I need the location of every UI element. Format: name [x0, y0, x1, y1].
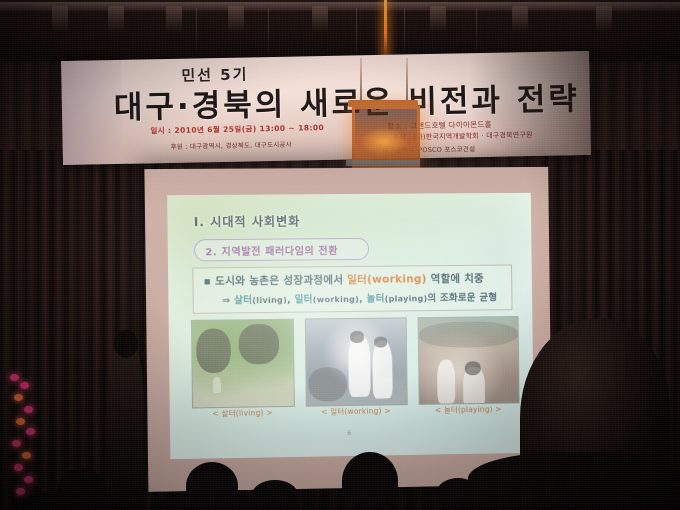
- truss-fixture: [52, 6, 68, 32]
- truss-bar: [0, 2, 680, 11]
- rigging-cable: [476, 8, 477, 52]
- stage-floral-decoration: [2, 372, 46, 510]
- slide-photo-playing: [418, 316, 520, 405]
- bullet-2-playing: 놀터: [367, 294, 385, 305]
- audience-head: [342, 452, 398, 510]
- bullet-2-playing-en: (playing): [385, 294, 428, 303]
- audience-shoulders: [150, 496, 300, 510]
- conference-banner: 민선 5기 대구·경북의 새로운 비전과 전략 일시 : 2010년 6월 25…: [61, 51, 591, 165]
- slide-page-number: 6: [347, 430, 351, 437]
- truss-fixture: [228, 6, 244, 32]
- slide-photo-caption: < 살터(living) >: [192, 407, 293, 420]
- slide-photo-living: [191, 319, 295, 409]
- lamp-base: [346, 160, 420, 166]
- slide-photo-working: [305, 317, 408, 406]
- bullet-1-highlight: 일터(working): [347, 273, 427, 286]
- bullet-2-living: 살터: [234, 295, 252, 306]
- bullet-2-living-en: (living): [252, 296, 287, 305]
- lamp-glow: [360, 128, 408, 156]
- bullet-1-suffix: 역할에 치중: [427, 273, 484, 286]
- bullet-2-working: 일터: [295, 294, 313, 305]
- banner-sponsor: 후원 : 대구광역시, 경상북도, 대구도시공사: [171, 139, 292, 151]
- slide-photo-caption: < 일터(working) >: [306, 405, 406, 418]
- truss-fixture: [108, 6, 124, 32]
- standing-person-silhouette: [108, 340, 144, 510]
- presentation-slide: I. 시대적 사회변화 2. 지역발전 패러다임의 전환 ▪ 도시와 농촌은 성…: [167, 193, 534, 459]
- bullet-2-working-en: (working): [313, 295, 359, 305]
- truss-fixture: [430, 6, 446, 32]
- truss-fixture: [512, 6, 528, 32]
- bullet-1-prefix: 도시와 농촌은 성장과정에서: [215, 274, 347, 287]
- rigging-cable: [268, 8, 269, 60]
- conference-photo-scene: 민선 5기 대구·경북의 새로운 비전과 전략 일시 : 2010년 6월 25…: [0, 0, 680, 510]
- bullet-marker: ▪: [204, 275, 216, 287]
- slide-bullet-1: ▪ 도시와 농촌은 성장과정에서 일터(working) 역할에 치중: [204, 271, 484, 289]
- truss-fixture: [166, 6, 182, 32]
- slide-photo-caption: < 놀터(playing) >: [419, 403, 518, 416]
- truss-fixture: [596, 6, 612, 32]
- slide-subsection-title: 2. 지역발전 패러다임의 전환: [205, 242, 338, 258]
- bullet-2-tail: 의 조화로운 균형: [427, 292, 497, 304]
- rigging-cable: [404, 8, 405, 58]
- arrow-icon: ⇒: [222, 295, 230, 306]
- slide-section-title: I. 시대적 사회변화: [194, 212, 301, 230]
- truss-fixture: [312, 6, 328, 32]
- slide-bullet-2: ⇒ 살터(living), 일터(working), 놀터(playing)의 …: [222, 289, 497, 306]
- standing-person-head: [114, 330, 138, 358]
- banner-date: 일시 : 2010년 6월 25일(금) 13:00 ~ 18:00: [150, 122, 324, 136]
- slide-photo-row: < 살터(living) > < 일터(working) > < 놀터(play…: [191, 316, 518, 418]
- slide-subsection-box: 2. 지역발전 패러다임의 전환: [194, 238, 369, 262]
- projection-screen: I. 시대적 사회변화 2. 지역발전 패러다임의 전환 ▪ 도시와 농촌은 성…: [144, 167, 552, 492]
- slide-body-box: ▪ 도시와 농촌은 성장과정에서 일터(working) 역할에 치중 ⇒ 살터…: [192, 264, 512, 313]
- rigging-cable: [196, 8, 197, 54]
- foreground-shoulders-silhouette: [468, 452, 680, 510]
